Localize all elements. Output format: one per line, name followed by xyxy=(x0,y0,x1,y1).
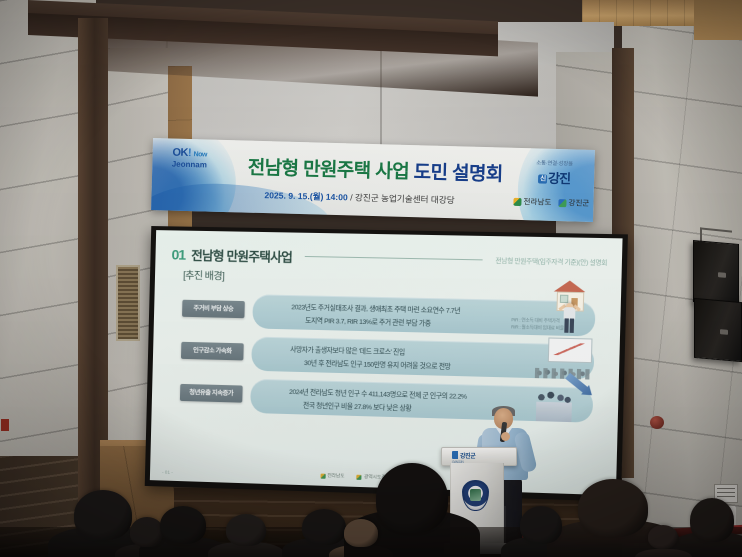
slogan-main: 신강진 xyxy=(522,167,586,188)
slogan-badge: 신 xyxy=(538,174,547,183)
house-window-shape xyxy=(560,295,569,303)
crowd-silhouette-shape xyxy=(535,360,592,380)
audience-member-head xyxy=(226,514,266,546)
photo-scene: OK! Now Jeonnam 전남형 만원주택 사업 도민 설명회 2025.… xyxy=(0,0,742,557)
banner-title-blue: 도민 설명회 xyxy=(413,162,503,185)
audience-silhouettes xyxy=(0,447,742,557)
audience-member-head xyxy=(160,506,206,544)
audience-member-head xyxy=(520,506,562,544)
audience-member-shoulders xyxy=(635,549,692,557)
line-array-speaker-upper xyxy=(693,240,739,306)
audience-member-head xyxy=(690,498,734,542)
person-carrying-house-illustration xyxy=(540,278,600,337)
banner-venue: 강진군 농업기술센터 대강당 xyxy=(355,193,455,206)
audience-member-head xyxy=(578,479,648,537)
slide-header-right-caption: 전남형 만원주택(입주자격 기준)(안) 설명회 xyxy=(495,256,607,267)
slide-row-population-decline: 인구감소 가속화 사망자가 출생자보다 많은 '데드 크로스' 진입 30년 후… xyxy=(181,335,595,380)
slide-section-number: 01 xyxy=(171,246,185,262)
fire-alarm-box-icon xyxy=(1,419,9,431)
event-banner: OK! Now Jeonnam 전남형 만원주택 사업 도민 설명회 2025.… xyxy=(151,138,595,222)
row2-line2: 30년 후 전라남도 인구 150만명 유지 어려울 것으로 전망 xyxy=(304,357,516,373)
row-body-youth-outflow: 2024년 전라남도 청년 인구 수 411,143명으로 전체 군 인구의 2… xyxy=(250,379,593,423)
row1-line2: 도지역 PIR 3.7, RIR 13%로 주거 관련 부담 가중 xyxy=(305,315,517,330)
slide-header: 01 전남형 만원주택사업 전남형 만원주택(입주자격 기준)(안) 설명회 xyxy=(171,244,607,272)
top-right-wood-trim-corner xyxy=(694,0,742,40)
youth-group-shape xyxy=(536,390,572,422)
banner-org-gangjin-label: 강진군 xyxy=(568,197,589,209)
row-body-housing-cost: 2023년도 주거실태조사 결과, 생애최초 주택 마련 소요연수 7.7년 도… xyxy=(252,294,595,336)
row-label-youth-outflow: 청년유출 지속증가 xyxy=(180,384,243,403)
logo-ok-word: OK xyxy=(172,147,188,159)
audience-member-head xyxy=(74,490,132,540)
banner-organizer-logos: 전라남도 강진군 xyxy=(513,196,589,209)
audience-member-head xyxy=(648,525,678,549)
slide-header-title: 전남형 만원주택사업 xyxy=(191,245,292,266)
decorative-red-sphere xyxy=(650,416,664,429)
banner-title-green: 전남형 만원주택 사업 xyxy=(247,158,409,183)
logo-now-word: Now xyxy=(193,151,206,158)
line-array-speaker-lower xyxy=(694,298,742,362)
row-label-housing-cost: 주거비 부담 상승 xyxy=(182,300,245,318)
row-label-population-decline: 인구감소 가속화 xyxy=(181,342,244,361)
slide-header-rule xyxy=(304,256,483,260)
declining-population-chart-illustration xyxy=(535,337,593,379)
figure-legs xyxy=(564,318,574,333)
slide-row-housing-cost: 주거비 부담 상승 2023년도 주거실태조사 결과, 생애최초 주택 마련 소… xyxy=(182,293,596,337)
slide-subsection-label: [추진 배경] xyxy=(183,267,225,283)
presenter-hand xyxy=(501,432,510,441)
audience-member-head xyxy=(344,519,378,547)
banner-org-gangjin: 강진군 xyxy=(558,197,589,209)
speaker-badge xyxy=(718,272,726,278)
speaker-badge xyxy=(720,329,728,335)
slogan-tagline: 소통·연결·성장을 xyxy=(522,158,586,168)
audience-member-head xyxy=(302,509,346,545)
sin-gangjin-slogan-mark: 소통·연결·성장을 신강진 xyxy=(522,158,587,188)
house-roof-shape xyxy=(554,280,586,292)
logo-exclamation: ! xyxy=(188,147,191,159)
gangjin-seal-icon xyxy=(558,199,566,207)
audience-member-head xyxy=(376,463,448,533)
row-body-population-decline: 사망자가 출생자보다 많은 '데드 크로스' 진입 30년 후 전라남도 인구 … xyxy=(251,336,594,379)
slogan-main-text: 강진 xyxy=(548,171,570,187)
audience-member-head xyxy=(130,517,164,547)
wall-vent-grille-icon xyxy=(116,265,140,341)
banner-title: 전남형 만원주택 사업 도민 설명회 xyxy=(210,152,541,188)
youth-group-arrow-illustration xyxy=(534,378,594,423)
banner-date: 2025. 9. 15.(월) 14:00 xyxy=(264,190,348,202)
banner-org-jeonnam: 전라남도 xyxy=(513,196,551,208)
banner-org-jeonnam-label: 전라남도 xyxy=(523,196,551,208)
jeonnam-seal-icon xyxy=(513,197,521,205)
